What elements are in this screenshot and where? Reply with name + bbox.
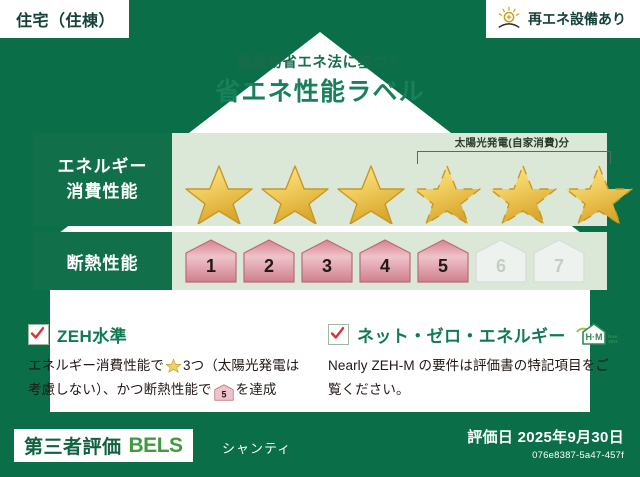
bels-en-label: BELS — [129, 434, 183, 458]
performance-panel: エネルギー 消費性能 太陽光発電(自家消費)分 — [33, 133, 607, 290]
svg-text:H·M: H·M — [585, 332, 602, 342]
criterion-nze-title: ネット・ゼロ・エネルギー — [357, 322, 566, 347]
checkbox-zeh-standard[interactable] — [28, 324, 49, 345]
insulation-grade-scale: 1 2 3 — [172, 232, 607, 290]
insulation-grade-5-number: 5 — [416, 257, 470, 275]
renewable-energy-tag: 再エネ設備あり — [486, 0, 640, 38]
energy-label-line1: エネルギー — [58, 155, 148, 180]
house-grade-row: 1 2 3 — [184, 238, 586, 284]
building-type-tag: 住宅（住棟） — [0, 0, 129, 38]
insulation-grade-7-number: 7 — [532, 257, 586, 275]
criteria-section: ZEH水準 エネルギー消費性能で3つ（太陽光発電は考慮しない）、かつ断熱性能で5… — [28, 322, 612, 405]
check-icon — [330, 326, 345, 341]
checkbox-net-zero-energy[interactable] — [328, 324, 349, 345]
label-title-block: 建築物省エネ法に基づく 省エネ性能ラベル — [0, 56, 640, 105]
star-2 — [258, 160, 332, 224]
criterion-nze-header: ネット・ゼロ・エネルギー H·M Nearly ZEH-M — [328, 322, 612, 346]
renewable-energy-label: 再エネ設備あり — [528, 9, 626, 29]
criterion-nze-body: Nearly ZEH-M の要件は評価書の特記項目をご覧ください。 — [328, 354, 612, 401]
star-4-solar — [410, 160, 484, 224]
insulation-grade-3: 3 — [300, 238, 354, 284]
energy-performance-label: エネルギー 消費性能 — [33, 133, 172, 226]
evaluation-date-label: 評価日 — [467, 429, 513, 446]
criterion-zeh-title: ZEH水準 — [57, 322, 127, 347]
zeh-m-logo-icon: H·M Nearly ZEH-M — [574, 321, 618, 347]
house-grade-icon: 5 — [214, 386, 234, 401]
sun-icon — [496, 6, 522, 32]
insulation-grade-7: 7 — [532, 238, 586, 284]
insulation-grade-2: 2 — [242, 238, 296, 284]
insulation-grade-1: 1 — [184, 238, 238, 284]
insulation-grade-2-number: 2 — [242, 257, 296, 275]
criterion-zeh-header: ZEH水準 — [28, 322, 312, 346]
criterion-zeh-standard: ZEH水準 エネルギー消費性能で3つ（太陽光発電は考慮しない）、かつ断熱性能で5… — [28, 322, 312, 405]
insulation-grade-5: 5 — [416, 238, 470, 284]
bels-jp-label: 第三者評価 — [24, 432, 122, 459]
insulation-grade-4-number: 4 — [358, 257, 412, 275]
star-6-solar — [562, 160, 636, 224]
energy-label-line2: 消費性能 — [67, 180, 139, 205]
star-1 — [182, 160, 256, 224]
insulation-grade-6-number: 6 — [474, 257, 528, 275]
building-type-label: 住宅（住棟） — [16, 7, 115, 31]
evaluation-date: 評価日 2025年9月30日 — [467, 426, 624, 447]
star-3 — [334, 160, 408, 224]
energy-star-rating: 太陽光発電(自家消費)分 — [172, 133, 607, 226]
star-5-solar — [486, 160, 560, 224]
insulation-grade-6: 6 — [474, 238, 528, 284]
check-icon — [30, 326, 45, 341]
criterion-zeh-body: エネルギー消費性能で3つ（太陽光発電は考慮しない）、かつ断熱性能で5を達成 — [28, 354, 312, 405]
evaluation-date-value: 2025年9月30日 — [518, 429, 624, 446]
bels-badge: 第三者評価 BELS — [14, 429, 193, 462]
insulation-label-text: 断熱性能 — [67, 249, 139, 274]
insulation-performance-label: 断熱性能 — [33, 232, 172, 290]
evaluation-id: 076e8387-5a47-457f — [467, 450, 624, 461]
insulation-grade-3-number: 3 — [300, 257, 354, 275]
energy-performance-label: 住宅（住棟） 再エネ設備あり 建築物省エネ法に基づく 省エネ性能ラベル エネルギ… — [0, 0, 640, 477]
criterion-net-zero-energy: ネット・ゼロ・エネルギー H·M Nearly ZEH-M Nearly ZEH… — [328, 322, 612, 405]
svg-text:ZEH-M: ZEH-M — [608, 339, 618, 344]
criterion-zeh-text-1: エネルギー消費性能で — [28, 358, 164, 373]
star-row — [182, 160, 636, 224]
title-subtitle: 建築物省エネ法に基づく — [0, 56, 640, 71]
star-icon — [165, 357, 182, 373]
page-title: 省エネ性能ラベル — [0, 80, 640, 105]
energy-performance-row: エネルギー 消費性能 太陽光発電(自家消費)分 — [33, 133, 607, 226]
insulation-grade-4: 4 — [358, 238, 412, 284]
criterion-zeh-text-3: を達成 — [236, 382, 277, 397]
solar-bracket-caption: 太陽光発電(自家消費)分 — [387, 135, 637, 150]
evaluation-info: 評価日 2025年9月30日 076e8387-5a47-457f — [467, 426, 624, 461]
svg-text:5: 5 — [221, 389, 226, 399]
builder-name: シャンティ — [222, 438, 291, 457]
insulation-performance-row: 断熱性能 1 — [33, 232, 607, 290]
footer-bar: 第三者評価 BELS シャンティ 評価日 2025年9月30日 076e8387… — [0, 412, 640, 477]
insulation-grade-1-number: 1 — [184, 257, 238, 275]
